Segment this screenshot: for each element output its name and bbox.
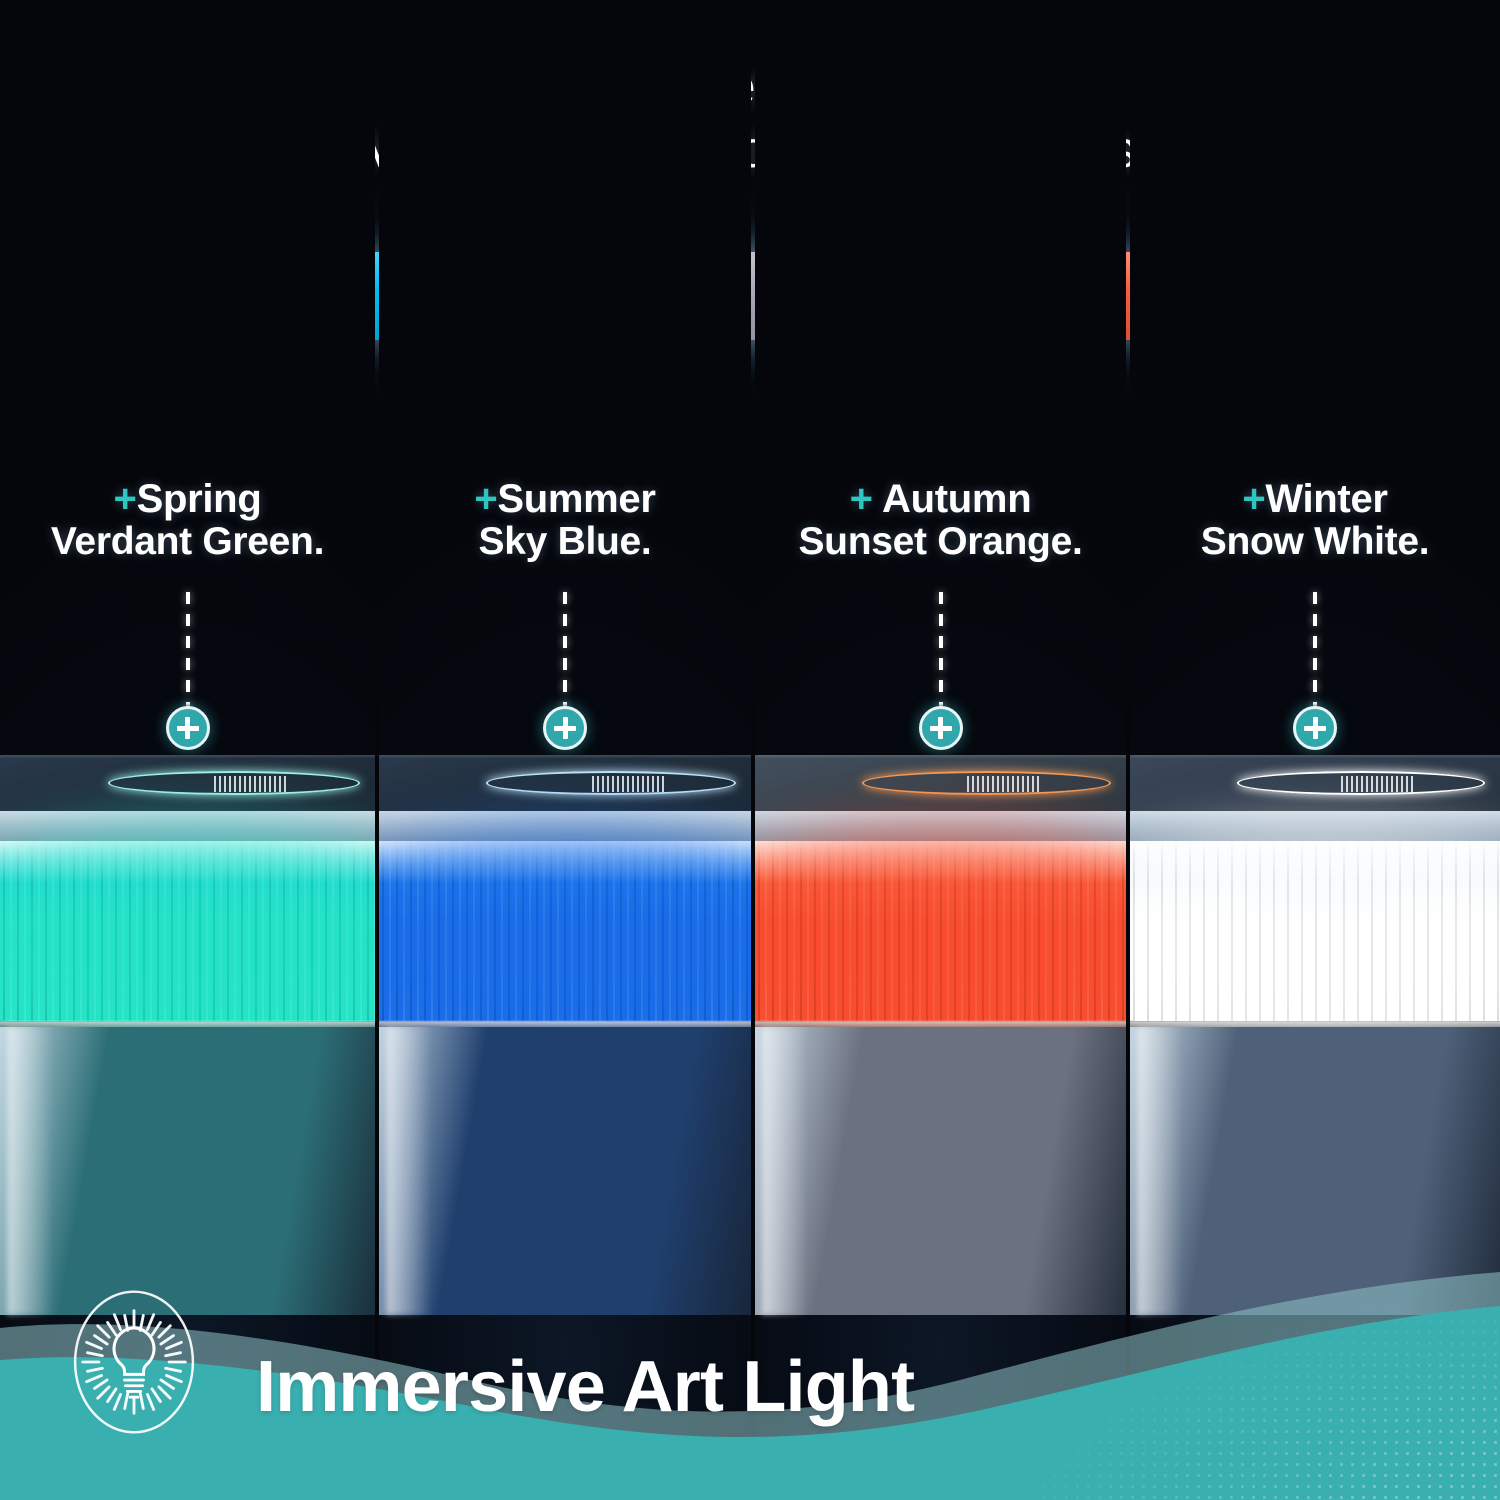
plus-circle-icon[interactable] xyxy=(543,706,587,750)
lid-light-ring xyxy=(1237,771,1486,795)
callout-dashed-line xyxy=(563,592,567,714)
lid-logo-glyph xyxy=(214,776,288,792)
season-name: Summer xyxy=(497,477,655,521)
plus-sign: + xyxy=(474,477,497,521)
lid-light-ring xyxy=(486,771,736,795)
season-color-name: Verdant Green. xyxy=(0,521,375,563)
product-feature-graphic: Discover 4 preset Immersive Art Lights i… xyxy=(0,0,1500,1500)
plus-circle-icon[interactable] xyxy=(919,706,963,750)
halftone-dot-pattern xyxy=(940,1228,1500,1500)
toilet-lid xyxy=(0,755,375,815)
callout-dashed-line xyxy=(939,592,943,714)
light-bulb-rays-icon xyxy=(58,1286,210,1438)
lid-logo-glyph xyxy=(1341,776,1414,792)
lid-light-ring xyxy=(108,771,360,795)
season-color-name: Sky Blue. xyxy=(379,521,751,563)
season-label: +SummerSky Blue. xyxy=(379,478,751,563)
plus-circle-icon[interactable] xyxy=(166,706,210,750)
banner-title: Immersive Art Light xyxy=(256,1346,914,1428)
toilet-lid xyxy=(755,755,1126,815)
season-name: Autumn xyxy=(882,477,1031,521)
lid-logo-glyph xyxy=(592,776,666,792)
lid-light-ring xyxy=(862,771,1112,795)
plus-sign: + xyxy=(1242,477,1265,521)
callout-dashed-line xyxy=(1313,592,1317,714)
plus-sign: + xyxy=(114,477,137,521)
lid-logo-glyph xyxy=(967,776,1041,792)
bottom-banner: Immersive Art Light xyxy=(0,1210,1500,1500)
season-color-name: Snow White. xyxy=(1130,521,1500,563)
season-color-name: Sunset Orange. xyxy=(755,521,1126,563)
season-name: Winter xyxy=(1265,477,1387,521)
plus-sign: + xyxy=(850,477,882,521)
season-name: Spring xyxy=(137,477,262,521)
season-label: + AutumnSunset Orange. xyxy=(755,478,1126,563)
season-label: +WinterSnow White. xyxy=(1130,478,1500,563)
callout-dashed-line xyxy=(186,592,190,714)
season-label: +SpringVerdant Green. xyxy=(0,478,375,563)
plus-circle-icon[interactable] xyxy=(1293,706,1337,750)
toilet-lid xyxy=(1130,755,1500,815)
toilet-lid xyxy=(379,755,751,815)
